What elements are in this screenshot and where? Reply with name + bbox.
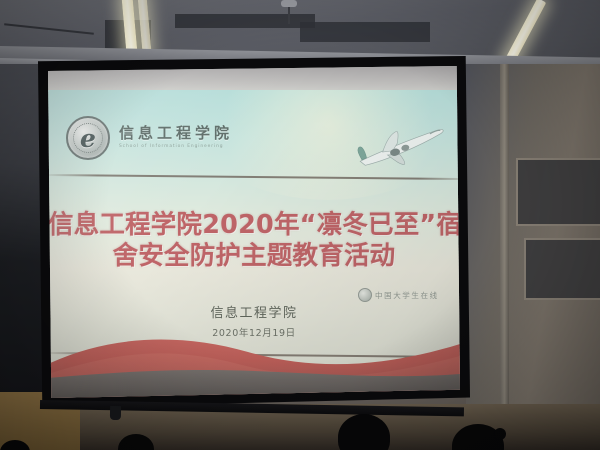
subtitle-date: 2020年12月19日 — [48, 325, 460, 339]
watermark-badge-icon — [358, 288, 372, 302]
window-lower — [524, 238, 600, 300]
ceiling-panel-center — [175, 14, 315, 28]
ceiling-panel-right — [300, 22, 430, 42]
title-line-2: 舍安全防护主题教育活动 — [48, 241, 460, 272]
window-upper — [516, 158, 600, 226]
logo-wordmark: 信息工程学院 School of Information Engineering — [119, 126, 233, 149]
presentation-slide: e 信息工程学院 School of Information Engineeri… — [48, 90, 460, 398]
emblem-letter-e: e — [68, 118, 108, 158]
ceiling-wire — [4, 23, 94, 34]
title-line-1: 信息工程学院2020年“凛冬已至”宿 — [48, 210, 460, 241]
projection-screen-surface: e 信息工程学院 School of Information Engineeri… — [48, 66, 460, 398]
screen-pull-knob[interactable] — [110, 406, 121, 420]
college-emblem-icon: e — [66, 116, 110, 160]
logo-institution-en: School of Information Engineering — [119, 145, 233, 149]
logo-institution-cn: 信息工程学院 — [119, 126, 233, 141]
airplane-icon — [348, 124, 452, 170]
slide-title: 信息工程学院2020年“凛冬已至”宿 舍安全防护主题教育活动 — [48, 210, 460, 272]
slide-header-logo: e 信息工程学院 School of Information Engineeri… — [66, 116, 233, 160]
ceiling-lamp-head-icon — [281, 0, 297, 7]
wall-pillar — [500, 64, 509, 450]
watermark-label: 中国大学生在线 — [375, 290, 439, 301]
slide-subtitle: 信息工程学院 2020年12月19日 — [48, 302, 460, 339]
photo-of-classroom-projection: e 信息工程学院 School of Information Engineeri… — [0, 0, 600, 450]
subtitle-organization: 信息工程学院 — [48, 302, 460, 321]
slide-watermark: 中国大学生在线 — [358, 288, 439, 302]
